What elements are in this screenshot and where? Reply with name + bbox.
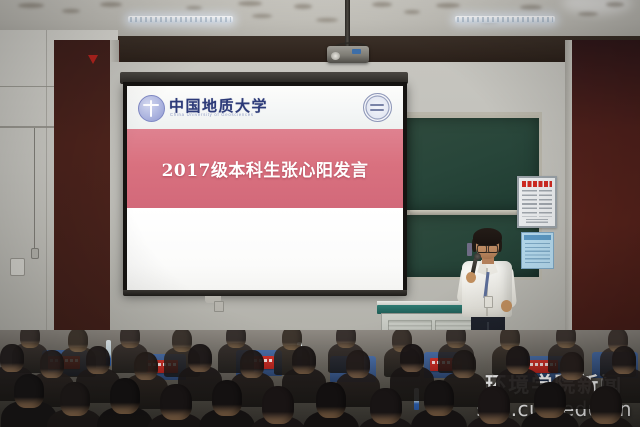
audience-head xyxy=(506,346,530,374)
microphone-head-icon xyxy=(474,253,481,260)
audience-head xyxy=(346,350,370,378)
ceiling-stain xyxy=(62,9,80,13)
notice-white-footer-rows xyxy=(526,219,548,223)
wall-outlet xyxy=(214,301,224,312)
audience-head xyxy=(316,382,346,418)
audience-head xyxy=(0,344,24,372)
ceiling-stain xyxy=(436,3,460,8)
ceiling-stain xyxy=(520,5,542,10)
audience-head xyxy=(20,330,40,348)
screen-bottom-bar xyxy=(123,290,407,296)
projector-mount-pole xyxy=(345,0,350,48)
right-maroon-panel xyxy=(572,40,640,345)
audience-head xyxy=(534,382,566,418)
audience-head xyxy=(86,346,110,374)
left-wall-seam-vertical xyxy=(46,30,47,340)
audience-head xyxy=(262,386,294,424)
audience-head xyxy=(336,330,356,348)
ceiling-stain xyxy=(606,2,624,7)
audience-head xyxy=(240,350,264,378)
red-marker-icon xyxy=(88,55,98,64)
slide-title-band: 2017级本科生张心阳发言 xyxy=(127,129,403,208)
slide-title: 2017级本科生张心阳发言 xyxy=(162,156,369,181)
audience-head xyxy=(556,330,576,348)
audience-head xyxy=(292,346,316,374)
notice-blue-text-rows xyxy=(525,243,550,264)
audience-head xyxy=(452,350,476,378)
projector-indicator xyxy=(352,49,361,54)
slide-header: 中国地质大学 China University of Geosciences xyxy=(127,86,403,129)
audience-head xyxy=(612,346,636,374)
audience-head xyxy=(560,352,584,380)
audience-head xyxy=(400,344,424,372)
slide-surface: 中国地质大学 China University of Geosciences 2… xyxy=(127,86,403,290)
pull-cord[interactable] xyxy=(34,128,35,250)
audience-head xyxy=(60,382,90,416)
audience-head xyxy=(424,380,454,416)
ceiling-light-fixture xyxy=(455,16,555,23)
notice-white-header xyxy=(522,181,552,187)
projector-lens-icon xyxy=(331,52,340,60)
ceiling-stain xyxy=(404,10,420,14)
audience-head xyxy=(120,330,140,348)
ceiling-stain xyxy=(372,2,392,7)
audience-head xyxy=(370,388,402,424)
university-name-en: China University of Geosciences xyxy=(170,112,254,117)
ceiling-stain xyxy=(100,2,122,7)
notice-white-column-gap xyxy=(537,190,539,217)
speaker-right-hand xyxy=(501,300,512,312)
speaker-hair xyxy=(473,228,502,246)
audience-head xyxy=(590,386,622,424)
speaker-left-hand xyxy=(466,272,476,283)
ceiling-stain xyxy=(186,6,202,10)
ceiling-stain xyxy=(252,14,272,18)
ceiling-light-fixture xyxy=(128,16,233,23)
audience-head xyxy=(14,374,44,408)
audience-head xyxy=(40,350,64,378)
projection-screen: 中国地质大学 China University of Geosciences 2… xyxy=(123,82,407,294)
ceiling-stain xyxy=(18,3,44,8)
cug-circle-logo-icon xyxy=(138,95,165,122)
notice-blue-header xyxy=(524,235,551,240)
ceiling-stain xyxy=(316,18,338,22)
audience-head xyxy=(68,330,88,352)
audience-head xyxy=(110,378,140,414)
audience-head xyxy=(212,380,242,416)
wall-notice-blue xyxy=(521,232,554,269)
audience-head xyxy=(226,330,246,348)
audience xyxy=(0,330,640,427)
audience-head xyxy=(446,330,466,348)
audience-head xyxy=(134,352,158,380)
audience-head xyxy=(160,384,192,420)
ceiling-stain xyxy=(238,1,262,6)
ceiling-stain xyxy=(294,4,312,9)
audience-head xyxy=(478,386,510,424)
ceiling-stain xyxy=(578,12,598,16)
university-seal-icon xyxy=(363,93,392,122)
audience-head xyxy=(188,344,212,372)
speaker-id-badge xyxy=(484,296,493,308)
pull-cord-knob[interactable] xyxy=(31,248,39,259)
light-switch[interactable] xyxy=(10,258,25,276)
lecture-hall-photo: 中国地质大学 China University of Geosciences 2… xyxy=(0,0,640,427)
slide-body-blank xyxy=(127,208,403,290)
wall-notice-white xyxy=(517,176,557,228)
eyeglasses-icon xyxy=(477,245,498,253)
